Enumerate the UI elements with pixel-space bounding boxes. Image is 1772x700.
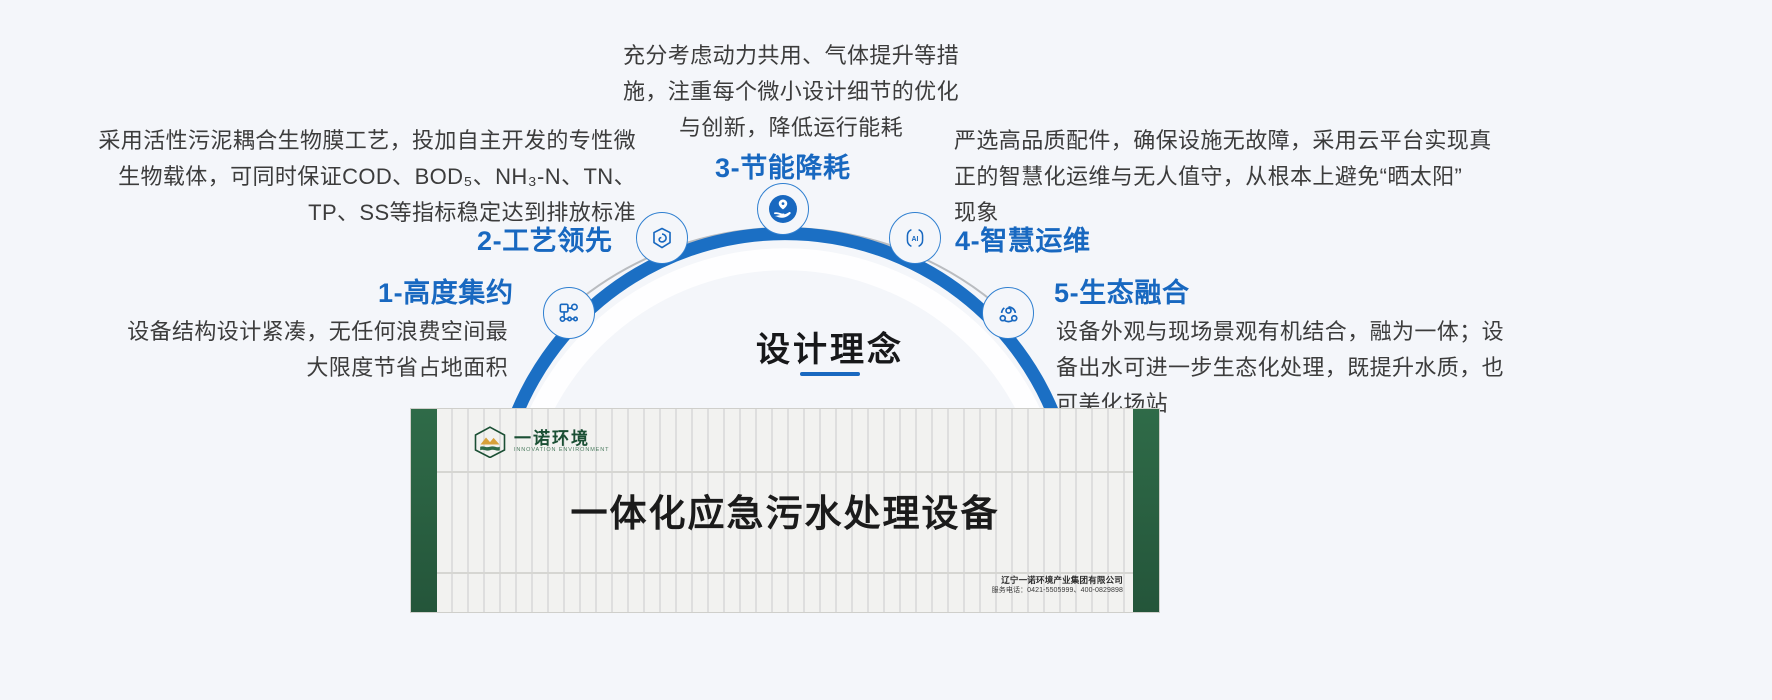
- energy-saving-hand-icon: [768, 194, 798, 224]
- mountain-wave-logo-icon: [473, 426, 507, 458]
- compact-structure-icon: [556, 300, 582, 326]
- node-icon-5-eco-network[interactable]: [982, 287, 1034, 339]
- center-title: 设计理念: [700, 322, 960, 371]
- desc-node-3: 充分考虑动力共用、气体提升等措 施，注重每个微小设计细节的优化 与创新，降低运行…: [598, 38, 984, 146]
- node-icon-4-ai-chip[interactable]: AI: [889, 212, 941, 264]
- corporate-name: 辽宁一诺环境产业集团有限公司: [992, 574, 1123, 586]
- svg-text:AI: AI: [912, 236, 919, 243]
- corporate-phone: 服务电话：0421-5505999、400-0829898: [992, 586, 1123, 596]
- desc-node-2: 采用活性污泥耦合生物膜工艺，投加自主开发的专性微 生物载体，可同时保证COD、B…: [58, 123, 636, 231]
- ai-chip-icon: AI: [902, 225, 928, 251]
- node-icon-3-energy-saving[interactable]: [757, 183, 809, 235]
- company-logo: 一诺环境 INNOVATION ENVIRONMENT: [473, 426, 609, 458]
- desc-node-5: 设备外观与现场景观有机结合，融为一体；设 备出水可进一步生态化处理，既提升水质，…: [1056, 314, 1530, 422]
- product-container: 一诺环境 INNOVATION ENVIRONMENT 一体化应急污水处理设备 …: [410, 408, 1160, 613]
- center-underline: [800, 372, 860, 376]
- node-icon-1-compact-structure[interactable]: [543, 287, 595, 339]
- label-node-3[interactable]: 3-节能降耗: [715, 146, 851, 185]
- infographic-canvas: AI 设计理念 1-高度集约 2-工艺领先 3-节能降耗 4-智慧运维 5-生态…: [0, 0, 1772, 700]
- membrane-process-icon: [649, 225, 675, 251]
- desc-node-1: 设备结构设计紧凑，无任何浪费空间最 大限度节省占地面积: [120, 314, 508, 386]
- logo-english-name: INNOVATION ENVIRONMENT: [514, 448, 609, 454]
- corporate-info: 辽宁一诺环境产业集团有限公司 服务电话：0421-5505999、400-082…: [992, 574, 1123, 596]
- eco-network-icon: [995, 300, 1022, 327]
- logo-chinese-name: 一诺环境: [514, 430, 609, 448]
- node-icon-2-membrane-process[interactable]: [636, 212, 688, 264]
- label-node-5[interactable]: 5-生态融合: [1054, 271, 1190, 310]
- product-title: 一体化应急污水处理设备: [411, 483, 1159, 537]
- container-rail-top: [437, 471, 1133, 473]
- label-node-1[interactable]: 1-高度集约: [378, 271, 514, 310]
- desc-node-4: 严选高品质配件，确保设施无故障，采用云平台实现真 正的智慧化运维与无人值守，从根…: [954, 123, 1538, 231]
